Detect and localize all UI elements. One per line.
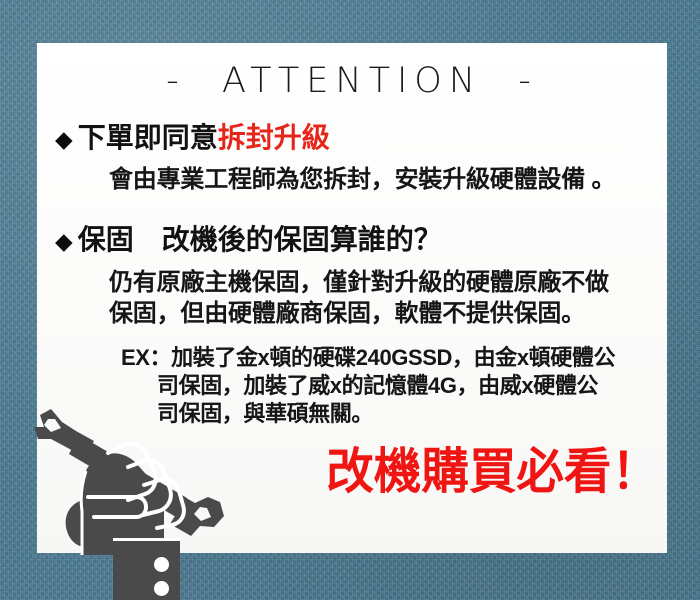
diamond-bullet-icon: ◆ [55,122,73,156]
body-line: 保固，但由硬體廠商保固，軟體不提供保固。 [37,298,667,329]
section-unseal-upgrade: ◆ 下單即同意 拆封升級 會由專業工程師為您拆封，安裝升級硬體設備 。 [37,121,667,195]
cuff-button-dot [154,557,169,572]
body-line: 會由專業工程師為您拆封，安裝升級硬體設備 。 [37,164,667,195]
body-line: 仍有原廠主機保固，僅針對升級的硬體原廠不做 [37,267,667,298]
sleeve-cuff [113,538,180,600]
example-line: 司保固，與華碩無關。 [37,400,667,428]
diamond-bullet-icon: ◆ [55,224,73,258]
heading-text-black: 下單即同意 [78,121,218,155]
example-line: EX：加裝了金x頓的硬碟240GSSD，由金x頓硬體公 [37,344,667,372]
heading-text-highlight: 拆封升級 [218,121,330,155]
heading-text-black: 保固 改機後的保固算誰的？ [78,223,442,257]
white-content-card: - ATTENTION - ◆ 下單即同意 拆封升級 會由專業工程師為您拆封，安… [37,43,667,553]
section-heading-unseal: ◆ 下單即同意 拆封升級 [37,121,667,156]
example-line: 司保固，加裝了威x的記憶體4G，由威x硬體公 [37,372,667,400]
page-title: - ATTENTION - [37,59,667,103]
call-to-action-slogan: 改機購買必看！ [310,443,659,501]
section-warranty: ◆ 保固 改機後的保固算誰的？ 仍有原廠主機保固，僅針對升級的硬體原廠不做 保固… [37,223,667,428]
section-heading-warranty: ◆ 保固 改機後的保固算誰的？ [37,223,667,258]
cuff-button-dot [154,581,169,596]
poster-root: - ATTENTION - ◆ 下單即同意 拆封升級 會由專業工程師為您拆封，安… [0,0,700,600]
